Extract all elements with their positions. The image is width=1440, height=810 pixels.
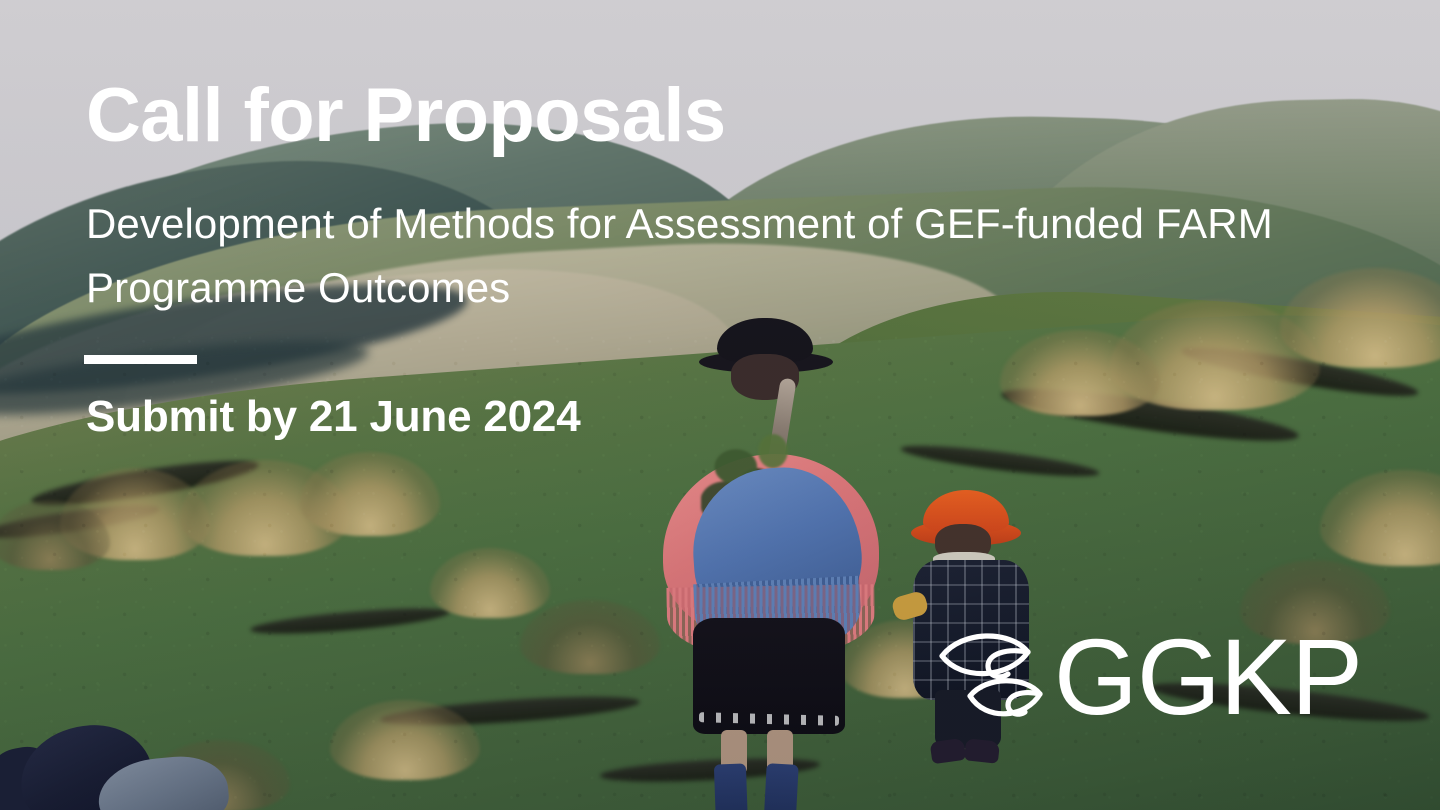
- divider-rule: [84, 355, 197, 364]
- ggkp-wordmark: GGKP: [1054, 633, 1362, 722]
- poster: Call for Proposals Development of Method…: [0, 0, 1440, 810]
- submission-deadline: Submit by 21 June 2024: [86, 392, 580, 442]
- subtitle: Development of Methods for Assessment of…: [86, 192, 1276, 320]
- page-title: Call for Proposals: [86, 76, 726, 156]
- ggkp-logo[interactable]: GGKP: [936, 622, 1362, 732]
- two-leaf-mark: [936, 622, 1048, 732]
